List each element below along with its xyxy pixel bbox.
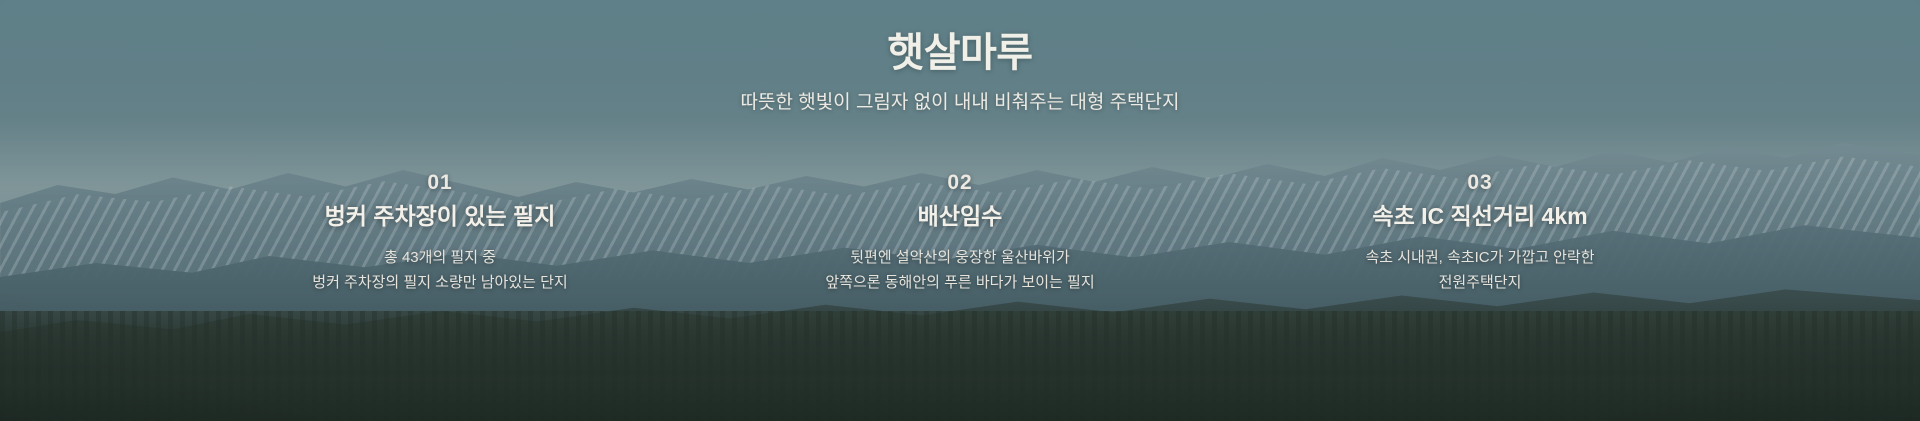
feature-description-line: 앞쪽으론 동해안의 푸른 바다가 보이는 필지 <box>730 271 1190 296</box>
feature-heading: 배산임수 <box>730 202 1190 232</box>
hero-banner: 햇살마루 따뜻한 햇빛이 그림자 없이 내내 비춰주는 대형 주택단지 01 벙… <box>0 0 1920 421</box>
feature-heading: 속초 IC 직선거리 4km <box>1250 202 1710 232</box>
hero-content: 햇살마루 따뜻한 햇빛이 그림자 없이 내내 비춰주는 대형 주택단지 01 벙… <box>0 0 1920 421</box>
page-subtitle: 따뜻한 햇빛이 그림자 없이 내내 비춰주는 대형 주택단지 <box>741 90 1180 117</box>
feature-number: 01 <box>210 169 670 196</box>
feature-list: 01 벙커 주차장이 있는 필지 총 43개의 필지 중 벙커 주차장의 필지 … <box>210 169 1710 296</box>
feature-heading: 벙커 주차장이 있는 필지 <box>210 202 670 232</box>
page-title: 햇살마루 <box>887 28 1032 78</box>
feature-item-03: 03 속초 IC 직선거리 4km 속초 시내권, 속초IC가 가깝고 안락한 … <box>1250 169 1710 296</box>
feature-description: 총 43개의 필지 중 벙커 주차장의 필지 소량만 남아있는 단지 <box>210 246 670 296</box>
feature-item-01: 01 벙커 주차장이 있는 필지 총 43개의 필지 중 벙커 주차장의 필지 … <box>210 169 670 296</box>
feature-number: 03 <box>1250 169 1710 196</box>
feature-description-line: 총 43개의 필지 중 <box>210 246 670 271</box>
feature-number: 02 <box>730 169 1190 196</box>
feature-description: 속초 시내권, 속초IC가 가깝고 안락한 전원주택단지 <box>1250 246 1710 296</box>
feature-description: 뒷편엔 설악산의 웅장한 울산바위가 앞쪽으론 동해안의 푸른 바다가 보이는 … <box>730 246 1190 296</box>
feature-description-line: 속초 시내권, 속초IC가 가깝고 안락한 <box>1250 246 1710 271</box>
feature-description-line: 전원주택단지 <box>1250 271 1710 296</box>
feature-item-02: 02 배산임수 뒷편엔 설악산의 웅장한 울산바위가 앞쪽으론 동해안의 푸른 … <box>730 169 1190 296</box>
feature-description-line: 뒷편엔 설악산의 웅장한 울산바위가 <box>730 246 1190 271</box>
feature-description-line: 벙커 주차장의 필지 소량만 남아있는 단지 <box>210 271 670 296</box>
